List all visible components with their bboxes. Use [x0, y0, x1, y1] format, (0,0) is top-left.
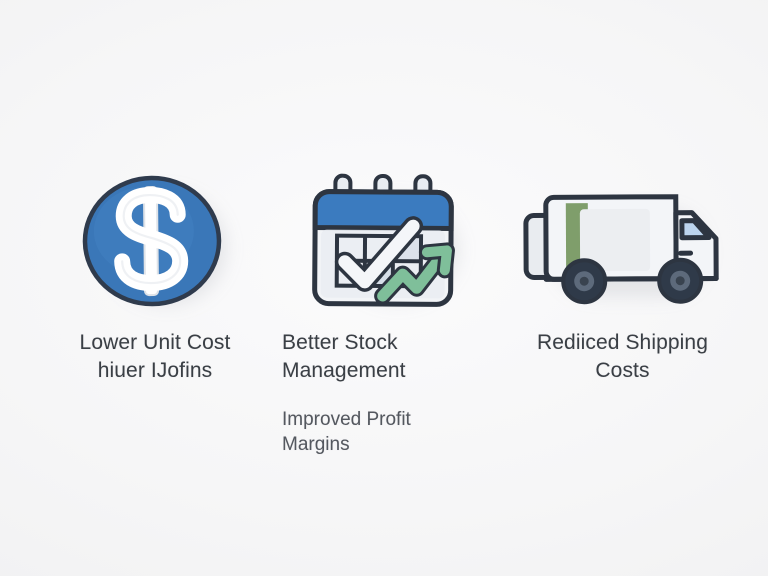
card-title-reduced-shipping-costs: Rediiced Shipping Costs — [505, 329, 740, 385]
benefits-board: Lower Unit Cost hiuer IJofins — [0, 0, 768, 576]
card-extra-line-2: Margins — [282, 432, 502, 458]
dollar-coin-icon[interactable] — [81, 172, 228, 314]
benefit-card-better-stock-management[interactable]: Better Stock Management Improved Profit … — [272, 170, 502, 458]
card-title-line-2: Costs — [505, 357, 740, 385]
benefit-card-lower-unit-cost[interactable]: Lower Unit Cost hiuer IJofins — [40, 170, 270, 385]
card-title-lower-unit-cost: Lower Unit Cost hiuer IJofins — [40, 329, 270, 385]
benefit-card-reduced-shipping-costs[interactable]: Rediiced Shipping Costs — [505, 170, 740, 385]
card-subtitle-line: hiuer IJofins — [40, 357, 270, 385]
card-extra-line-1: Improved Profit — [282, 407, 502, 433]
card-title-line-1: Better Stock — [282, 329, 502, 357]
card-title-line-1: Rediiced Shipping — [505, 329, 740, 357]
truck-icon-wrap — [505, 170, 740, 315]
delivery-truck-icon[interactable] — [520, 178, 726, 307]
card-title-line-2: Management — [282, 357, 502, 385]
card-extra-improved-profit-margins: Improved Profit Margins — [272, 407, 502, 458]
calendar-checkmark-growth-icon[interactable] — [306, 169, 467, 315]
calendar-icon-wrap — [272, 170, 502, 315]
dollar-coin-icon-wrap — [40, 170, 270, 315]
card-title-line: Lower Unit Cost — [40, 329, 270, 357]
card-title-better-stock-management: Better Stock Management — [272, 329, 502, 385]
